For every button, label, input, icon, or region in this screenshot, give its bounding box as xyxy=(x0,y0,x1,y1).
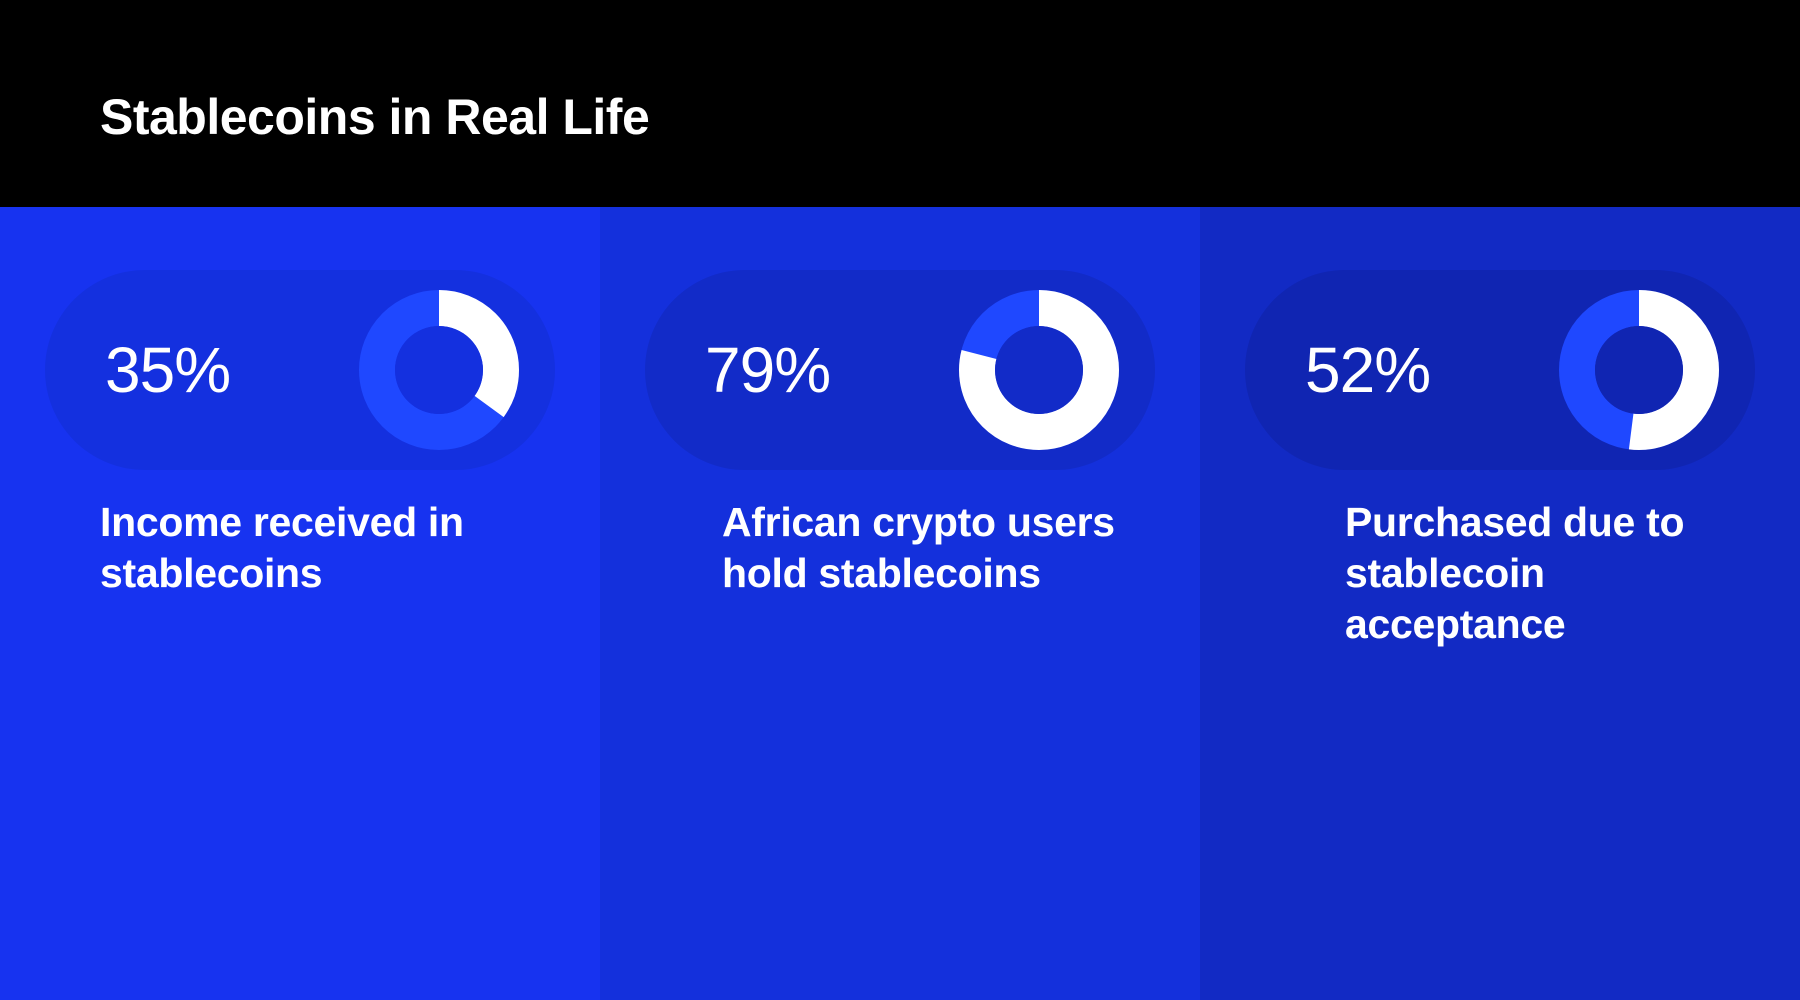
stat-value-1: 35% xyxy=(105,338,230,402)
donut-hole-3 xyxy=(1595,326,1683,414)
stat-caption-3: Purchased due to stablecoin acceptance xyxy=(1345,497,1775,649)
stat-value-3: 52% xyxy=(1305,338,1430,402)
stat-pill-2: 79% xyxy=(645,270,1155,470)
donut-svg-2 xyxy=(959,290,1119,450)
donut-hole-2 xyxy=(995,326,1083,414)
donut-hole-1 xyxy=(395,326,483,414)
page-title: Stablecoins in Real Life xyxy=(100,92,649,142)
header-bar: Stablecoins in Real Life xyxy=(0,0,1800,207)
stat-column-1: 35% Income received in stablecoins xyxy=(0,207,600,1000)
infographic-slide: Stablecoins in Real Life 35% Income rece… xyxy=(0,0,1800,1000)
donut-svg-1 xyxy=(359,290,519,450)
stat-column-2: 79% African crypto users hold stablecoin… xyxy=(600,207,1200,1000)
donut-chart-1 xyxy=(359,290,519,450)
donut-svg-3 xyxy=(1559,290,1719,450)
stat-column-3: 52% Purchased due to stablecoin acceptan… xyxy=(1200,207,1800,1000)
donut-chart-3 xyxy=(1559,290,1719,450)
stat-columns: 35% Income received in stablecoins 79% xyxy=(0,207,1800,1000)
donut-chart-2 xyxy=(959,290,1119,450)
stat-caption-2: African crypto users hold stablecoins xyxy=(722,497,1152,599)
stat-value-2: 79% xyxy=(705,338,830,402)
stat-pill-3: 52% xyxy=(1245,270,1755,470)
stat-caption-1: Income received in stablecoins xyxy=(100,497,530,599)
stat-pill-1: 35% xyxy=(45,270,555,470)
